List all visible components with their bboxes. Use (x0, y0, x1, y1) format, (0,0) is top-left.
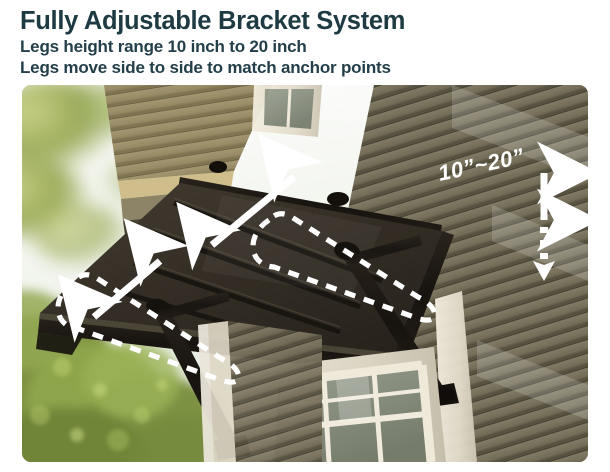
subtitle-line-1: Legs height range 10 inch to 20 inch (20, 36, 590, 57)
awning-photo-illustration: 10”~20” (22, 85, 588, 462)
subtitle-line-2: Legs move side to side to match anchor p… (20, 57, 590, 78)
promo-image-root: Fully Adjustable Bracket System Legs hei… (0, 0, 610, 472)
siding-left-panel (228, 321, 322, 462)
product-photo: 10”~20” (22, 85, 588, 462)
upper-window (252, 85, 322, 137)
heading-block: Fully Adjustable Bracket System Legs hei… (20, 6, 590, 78)
page-title: Fully Adjustable Bracket System (20, 6, 590, 36)
